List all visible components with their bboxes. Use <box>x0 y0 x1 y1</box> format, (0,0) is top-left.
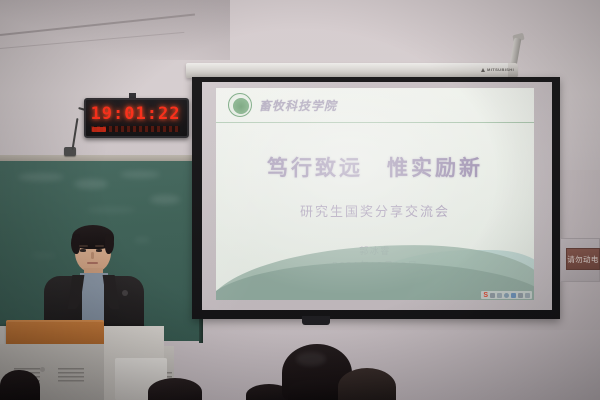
slide-org-name: 畜牧科技学院 <box>259 97 337 114</box>
volume-icon <box>511 293 516 298</box>
mic-icon <box>497 293 502 298</box>
tray-icon <box>525 293 530 298</box>
taskbar-logo-icon: S <box>483 292 488 299</box>
clock-display: 19:01:22 <box>91 104 180 124</box>
slide-main-title: 笃行致远 惟实励新 <box>216 152 534 182</box>
do-not-touch-sign: 请勿动电 <box>566 248 600 270</box>
slide-header-divider <box>216 122 534 123</box>
audience-head <box>148 378 202 400</box>
projector-brand-label: MITSUBISHI <box>487 67 514 72</box>
wps-taskbar-strip: S <box>481 291 532 299</box>
presenter-hair-right <box>105 234 114 254</box>
classroom-photo-scene: 19:01:22 MITSUBISHI 畜牧科技学院 笃行致远 惟实励新 研究生… <box>0 0 600 400</box>
audience-head <box>0 370 40 400</box>
presenter-jacket-zip <box>122 290 128 296</box>
wall-socket <box>64 147 76 156</box>
presenter-mouth <box>87 262 98 264</box>
clock-time-text: 19:01:22 <box>91 106 181 123</box>
college-crest-icon <box>228 93 252 117</box>
ime-icon <box>490 293 495 298</box>
screen-bottom-mount <box>302 316 330 325</box>
projection-screen-roller <box>186 63 516 78</box>
audience-head <box>338 368 396 400</box>
slide-subtitle: 研究生国奖分享交流会 <box>216 201 534 220</box>
mitsubishi-logo-icon <box>481 68 485 72</box>
projected-slide: 畜牧科技学院 笃行致远 惟实励新 研究生国奖分享交流会 郭冰睿 2021年12月… <box>216 88 534 300</box>
podium-wooden-top <box>6 322 104 346</box>
network-icon <box>504 293 509 298</box>
podium-button <box>40 367 45 372</box>
clock-indicator-active <box>92 127 106 132</box>
presenter-hair-left <box>71 234 80 254</box>
slide-header: 畜牧科技学院 <box>216 88 534 122</box>
led-wall-clock: 19:01:22 <box>84 98 189 138</box>
presenter-nose <box>91 252 94 259</box>
podium-vent-mid <box>58 368 84 384</box>
wall-sign-text: 请勿动电 <box>567 254 599 265</box>
crest-inner-mark <box>236 101 245 110</box>
battery-icon <box>518 293 523 298</box>
